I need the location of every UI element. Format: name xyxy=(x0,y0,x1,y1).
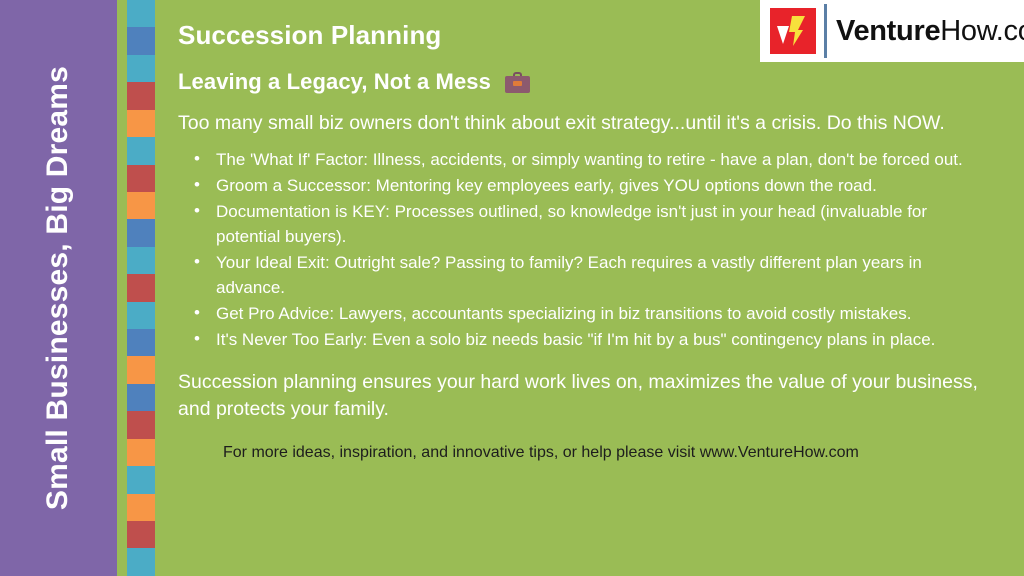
sidebar-vertical-title: Small Businesses, Big Dreams xyxy=(0,0,117,576)
slide-subtitle: Leaving a Legacy, Not a Mess xyxy=(178,69,1004,95)
color-swatch-blue xyxy=(127,219,155,246)
color-swatch-orange xyxy=(127,192,155,219)
footer-note: For more ideas, inspiration, and innovat… xyxy=(178,444,1004,462)
color-swatch-red xyxy=(127,165,155,192)
color-mosaic-strip xyxy=(127,0,155,576)
color-swatch-orange xyxy=(127,356,155,383)
color-swatch-teal xyxy=(127,247,155,274)
bullet-item: Your Ideal Exit: Outright sale? Passing … xyxy=(178,251,978,301)
color-swatch-orange xyxy=(127,494,155,521)
briefcase-icon xyxy=(505,72,530,93)
closing-paragraph: Succession planning ensures your hard wo… xyxy=(178,369,978,424)
bullet-list: The 'What If' Factor: Illness, accidents… xyxy=(178,148,978,353)
color-swatch-orange xyxy=(127,439,155,466)
bullet-item: Documentation is KEY: Processes outlined… xyxy=(178,200,978,250)
color-swatch-red xyxy=(127,411,155,438)
color-swatch-orange xyxy=(127,110,155,137)
color-swatch-teal xyxy=(127,548,155,575)
lead-paragraph: Too many small biz owners don't think ab… xyxy=(178,110,978,138)
color-swatch-red xyxy=(127,274,155,301)
color-swatch-red xyxy=(127,82,155,109)
color-swatch-blue xyxy=(127,329,155,356)
bullet-item: The 'What If' Factor: Illness, accidents… xyxy=(178,148,978,173)
bullet-item: Groom a Successor: Mentoring key employe… xyxy=(178,174,978,199)
sidebar-title-text: Small Businesses, Big Dreams xyxy=(42,66,76,510)
color-swatch-red xyxy=(127,521,155,548)
color-swatch-teal xyxy=(127,0,155,27)
color-swatch-teal xyxy=(127,55,155,82)
slide-title: Succession Planning xyxy=(178,20,1004,51)
color-swatch-blue xyxy=(127,27,155,54)
slide-subtitle-text: Leaving a Legacy, Not a Mess xyxy=(178,69,491,95)
bullet-item: It's Never Too Early: Even a solo biz ne… xyxy=(178,328,978,353)
bullet-item: Get Pro Advice: Lawyers, accountants spe… xyxy=(178,302,978,327)
color-swatch-teal xyxy=(127,302,155,329)
color-swatch-teal xyxy=(127,137,155,164)
color-swatch-blue xyxy=(127,384,155,411)
slide-content: Succession Planning Leaving a Legacy, No… xyxy=(178,0,1004,576)
slide: Small Businesses, Big Dreams VentureHow.… xyxy=(0,0,1024,576)
color-swatch-teal xyxy=(127,466,155,493)
